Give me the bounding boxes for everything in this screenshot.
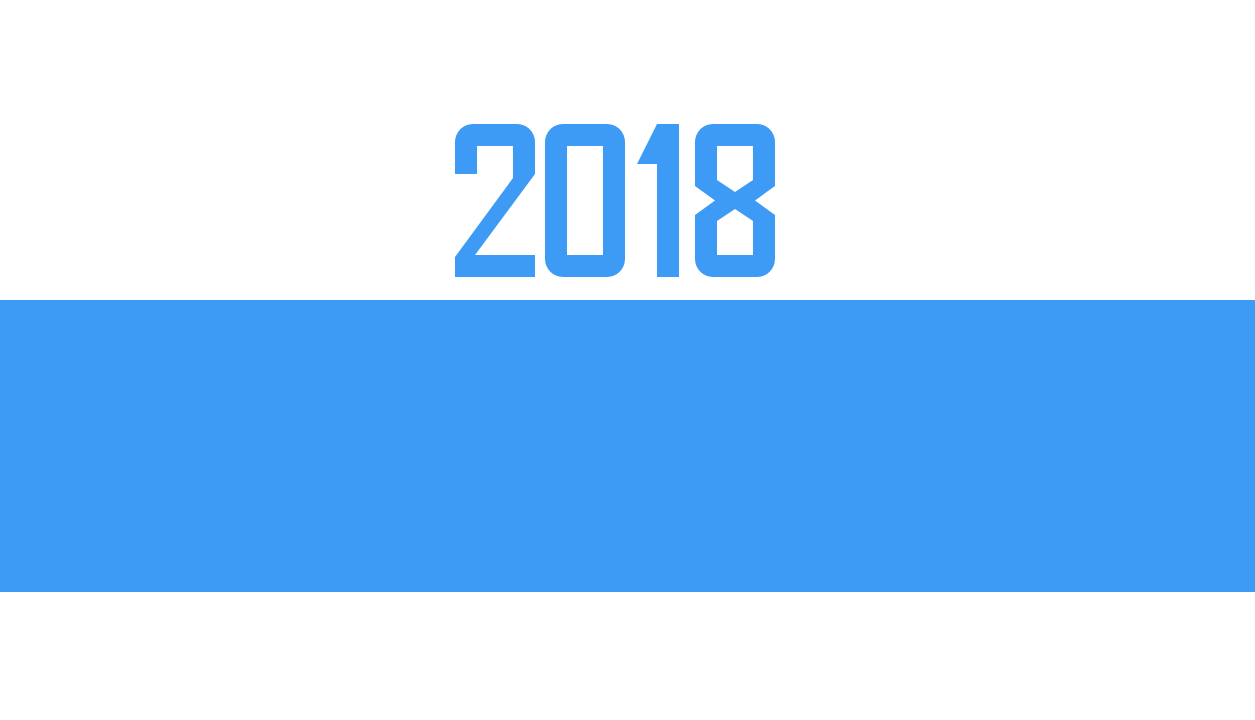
digit-0-glyph — [545, 124, 625, 277]
page-title: 中国智慧医疗行业市场前景研究报告 — [0, 635, 1255, 705]
report-cover-slide: 2018 中国智慧医疗行业市场前景研究报告 中商产业研究院 — [0, 0, 1255, 720]
digit-2-glyph — [455, 124, 535, 277]
accent-band: 中国智慧医疗行业市场前景研究报告 中商产业研究院 — [0, 300, 1255, 592]
digit-8-glyph — [695, 124, 775, 277]
year-2018-graphic: 2018 — [455, 124, 785, 277]
digit-1-glyph — [637, 124, 679, 277]
